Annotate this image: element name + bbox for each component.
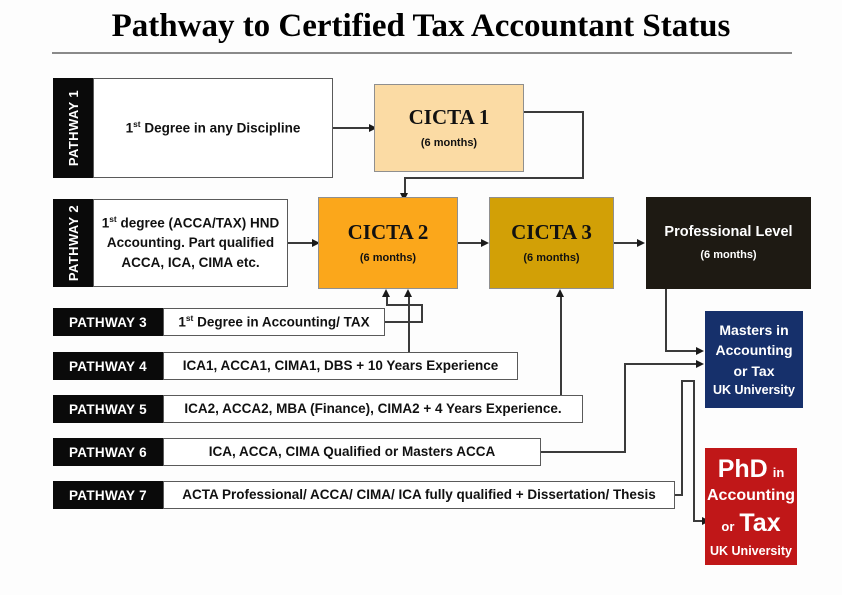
phd-line-2: Accounting bbox=[707, 486, 795, 507]
pathway-3-description: 1st Degree in Accounting/ TAX bbox=[163, 308, 385, 336]
cicta-2-title: CICTA 2 bbox=[348, 222, 429, 243]
pathway-4-tab-label: PATHWAY 4 bbox=[69, 359, 147, 374]
pathway-7-tab: PATHWAY 7 bbox=[53, 481, 163, 509]
pathway-1-tab: PATHWAY 1 bbox=[53, 78, 93, 178]
pathway-7-tab-label: PATHWAY 7 bbox=[69, 488, 147, 503]
pathway-2-line1-post: degree (ACCA/TAX) HND bbox=[117, 216, 280, 231]
pathway-6-description: ICA, ACCA, CIMA Qualified or Masters ACC… bbox=[163, 438, 541, 466]
pathway-1-text-sup: st bbox=[133, 119, 140, 129]
connector-p7-down-to-phd bbox=[693, 380, 695, 521]
connector-p4-up-to-cicta2 bbox=[408, 296, 410, 352]
connector-p3-out bbox=[385, 321, 423, 323]
phd-line1-small: in bbox=[773, 465, 785, 482]
professional-level-title: Professional Level bbox=[664, 225, 792, 240]
pathway-2-line1-sup: st bbox=[109, 214, 116, 224]
pathway-3-tab: PATHWAY 3 bbox=[53, 308, 163, 336]
arrowhead-professional-to-masters bbox=[696, 347, 704, 355]
masters-line-1: Masters in bbox=[719, 320, 788, 340]
pathway-6-tab-label: PATHWAY 6 bbox=[69, 445, 147, 460]
connector-cicta1-back-left bbox=[404, 177, 584, 179]
pathway-1-description: 1st Degree in any Discipline bbox=[93, 78, 333, 178]
pathway-7-description: ACTA Professional/ ACCA/ CIMA/ ICA fully… bbox=[163, 481, 675, 509]
connector-p6-up bbox=[624, 364, 626, 452]
phd-line-1: PhD in bbox=[718, 453, 785, 486]
pathway-1-text-pre: 1 bbox=[126, 120, 134, 135]
masters-line-2: Accounting bbox=[716, 340, 793, 360]
connector-p2-to-cicta2 bbox=[288, 242, 313, 244]
cicta-3-title: CICTA 3 bbox=[511, 222, 592, 243]
pathway-4-tab: PATHWAY 4 bbox=[53, 352, 163, 380]
connector-p6-out bbox=[541, 451, 626, 453]
connector-cicta1-down bbox=[582, 111, 584, 179]
arrowhead-p5-to-cicta3 bbox=[556, 289, 564, 297]
page-title: Pathway to Certified Tax Accountant Stat… bbox=[0, 8, 842, 45]
stage-cicta-2: CICTA 2 (6 months) bbox=[318, 197, 458, 289]
pathway-5-description: ICA2, ACCA2, MBA (Finance), CIMA2 + 4 Ye… bbox=[163, 395, 583, 423]
pathway-3-text-pre: 1 bbox=[178, 314, 186, 329]
pathway-2-line-1: 1st degree (ACCA/TAX) HND bbox=[102, 213, 279, 233]
arrowhead-p4-to-cicta2 bbox=[404, 289, 412, 297]
pathway-7-text: ACTA Professional/ ACCA/ CIMA/ ICA fully… bbox=[182, 485, 655, 505]
stage-professional-level: Professional Level (6 months) bbox=[646, 197, 811, 289]
connector-p5-up-to-cicta3 bbox=[560, 296, 562, 395]
pathway-3-text-post: Degree in Accounting/ TAX bbox=[193, 314, 369, 329]
masters-line-4: UK University bbox=[713, 381, 795, 399]
phd-line-3: or Tax bbox=[721, 507, 780, 540]
pathway-6-text: ICA, ACCA, CIMA Qualified or Masters ACC… bbox=[209, 442, 496, 462]
pathway-2-tab: PATHWAY 2 bbox=[53, 199, 93, 287]
pathway-1-text-post: Degree in any Discipline bbox=[141, 120, 301, 135]
connector-p1-to-cicta1 bbox=[333, 127, 369, 129]
pathway-5-tab-label: PATHWAY 5 bbox=[69, 402, 147, 417]
connector-p3-left bbox=[386, 304, 423, 306]
connector-cicta2-to-cicta3 bbox=[458, 242, 482, 244]
outcome-masters: Masters in Accounting or Tax UK Universi… bbox=[705, 311, 803, 408]
connector-p7-up bbox=[681, 380, 683, 495]
cicta-1-duration: (6 months) bbox=[421, 137, 477, 149]
pathway-5-text: ICA2, ACCA2, MBA (Finance), CIMA2 + 4 Ye… bbox=[184, 399, 561, 419]
arrowhead-p6-to-masters bbox=[696, 360, 704, 368]
stage-cicta-3: CICTA 3 (6 months) bbox=[489, 197, 614, 289]
outcome-phd: PhD in Accounting or Tax UK University bbox=[705, 448, 797, 565]
connector-professional-down bbox=[665, 289, 667, 351]
cicta-2-duration: (6 months) bbox=[360, 252, 416, 264]
arrowhead-p3-to-cicta2 bbox=[382, 289, 390, 297]
arrowhead-cicta3-to-professional bbox=[637, 239, 645, 247]
pathway-6-tab: PATHWAY 6 bbox=[53, 438, 163, 466]
connector-professional-to-masters bbox=[665, 350, 697, 352]
arrowhead-cicta2-to-cicta3 bbox=[481, 239, 489, 247]
pathway-2-description: 1st degree (ACCA/TAX) HND Accounting. Pa… bbox=[93, 199, 288, 287]
pathway-4-description: ICA1, ACCA1, CIMA1, DBS + 10 Years Exper… bbox=[163, 352, 518, 380]
pathway-2-line-3: ACCA, ICA, CIMA etc. bbox=[121, 253, 259, 273]
pathway-1-text: 1st Degree in any Discipline bbox=[126, 118, 301, 138]
pathway-3-text: 1st Degree in Accounting/ TAX bbox=[178, 312, 369, 332]
phd-line1-big: PhD bbox=[718, 453, 768, 486]
stage-cicta-1: CICTA 1 (6 months) bbox=[374, 84, 524, 172]
connector-p3-up bbox=[421, 305, 423, 322]
title-underline bbox=[52, 52, 792, 54]
phd-line3-small: or bbox=[721, 519, 734, 536]
cicta-1-title: CICTA 1 bbox=[409, 107, 490, 128]
masters-line-3: or Tax bbox=[734, 361, 775, 381]
pathway-3-tab-label: PATHWAY 3 bbox=[69, 315, 147, 330]
pathway-4-text: ICA1, ACCA1, CIMA1, DBS + 10 Years Exper… bbox=[183, 356, 499, 376]
diagram-canvas: Pathway to Certified Tax Accountant Stat… bbox=[0, 0, 842, 595]
professional-level-duration: (6 months) bbox=[700, 249, 756, 261]
cicta-3-duration: (6 months) bbox=[523, 252, 579, 264]
phd-line3-big: Tax bbox=[739, 507, 780, 540]
connector-cicta3-to-professional bbox=[614, 242, 638, 244]
pathway-2-line-2: Accounting. Part qualified bbox=[107, 233, 274, 253]
pathway-1-tab-label: PATHWAY 1 bbox=[66, 90, 81, 166]
phd-line-4: UK University bbox=[710, 543, 792, 559]
pathway-2-tab-label: PATHWAY 2 bbox=[66, 205, 81, 281]
connector-p6-to-masters bbox=[624, 363, 697, 365]
connector-cicta1-out-right bbox=[524, 111, 584, 113]
pathway-5-tab: PATHWAY 5 bbox=[53, 395, 163, 423]
connector-p3-into-cicta2 bbox=[386, 296, 388, 305]
